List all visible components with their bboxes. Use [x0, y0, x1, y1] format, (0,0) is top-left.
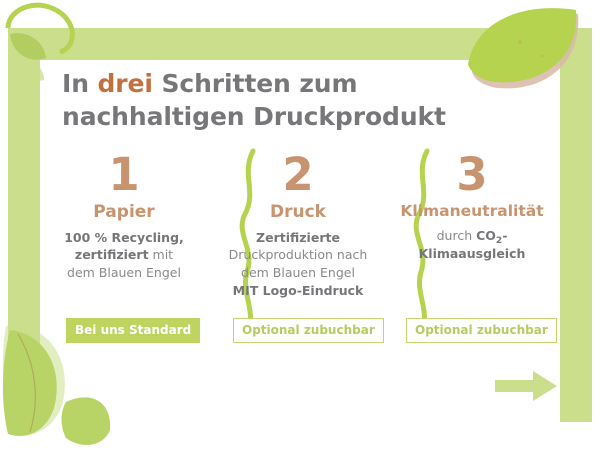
- title-line1-post: Schritten zum: [153, 69, 358, 98]
- forward-arrow-icon: [495, 370, 559, 406]
- step-column-1: 1 Papier 100 % Recycling, zertifiziert m…: [48, 152, 200, 282]
- step-number-2: 2: [222, 152, 374, 197]
- step1-text-bold1: 100 % Recycling,: [64, 230, 184, 245]
- step-heading-3: Klimaneutralität: [396, 203, 548, 220]
- step3-text-reg1: durch: [437, 228, 477, 243]
- step2-text-reg2: Druckproduktion nach: [229, 247, 368, 262]
- infographic-poster: In drei Schritten zum nachhaltigen Druck…: [0, 0, 600, 450]
- step1-text-bold2: zertifiziert: [75, 247, 149, 262]
- step-column-2: 2 Druck Zertifizierte Druckproduktion na…: [222, 152, 374, 300]
- step1-text-reg2: mit: [149, 247, 174, 262]
- title-line2: nachhaltigen Druckprodukt: [62, 102, 446, 131]
- step2-text-bold1: Zertifizierte: [256, 230, 340, 245]
- step-body-3: durch CO2- Klimaausgleich: [396, 227, 548, 263]
- poster-content: In drei Schritten zum nachhaltigen Druck…: [40, 60, 560, 422]
- status-badge-step-2: Optional zubuchbar: [233, 318, 384, 343]
- page-title: In drei Schritten zum nachhaltigen Druck…: [62, 68, 532, 133]
- step-heading-2: Druck: [222, 203, 374, 222]
- title-line1-pre: In: [62, 69, 98, 98]
- step-body-1: 100 % Recycling, zertifiziert mit dem Bl…: [48, 229, 200, 282]
- step3-text-bold2: Klimaausgleich: [419, 246, 526, 261]
- step3-text-co2-post: -: [502, 228, 507, 243]
- step3-text-co2-sub: 2: [496, 236, 502, 246]
- step-heading-1: Papier: [48, 203, 200, 222]
- step-number-1: 1: [48, 152, 200, 197]
- badges-container: Bei uns Standard Optional zubuchbar Opti…: [40, 318, 560, 348]
- step2-text-reg3: dem Blauen Engel: [241, 265, 355, 280]
- title-highlight: drei: [98, 69, 153, 98]
- step-body-2: Zertifizierte Druckproduktion nach dem B…: [222, 229, 374, 300]
- step3-text-co2: CO: [476, 228, 496, 243]
- status-badge-step-3: Optional zubuchbar: [406, 318, 557, 343]
- step-column-3: 3 Klimaneutralität durch CO2- Klimaausgl…: [396, 152, 548, 263]
- step2-text-bold4: MIT Logo-Eindruck: [233, 283, 364, 298]
- status-badge-step-1: Bei uns Standard: [66, 318, 200, 343]
- step-number-3: 3: [396, 152, 548, 197]
- step1-text-reg3: dem Blauen Engel: [67, 265, 181, 280]
